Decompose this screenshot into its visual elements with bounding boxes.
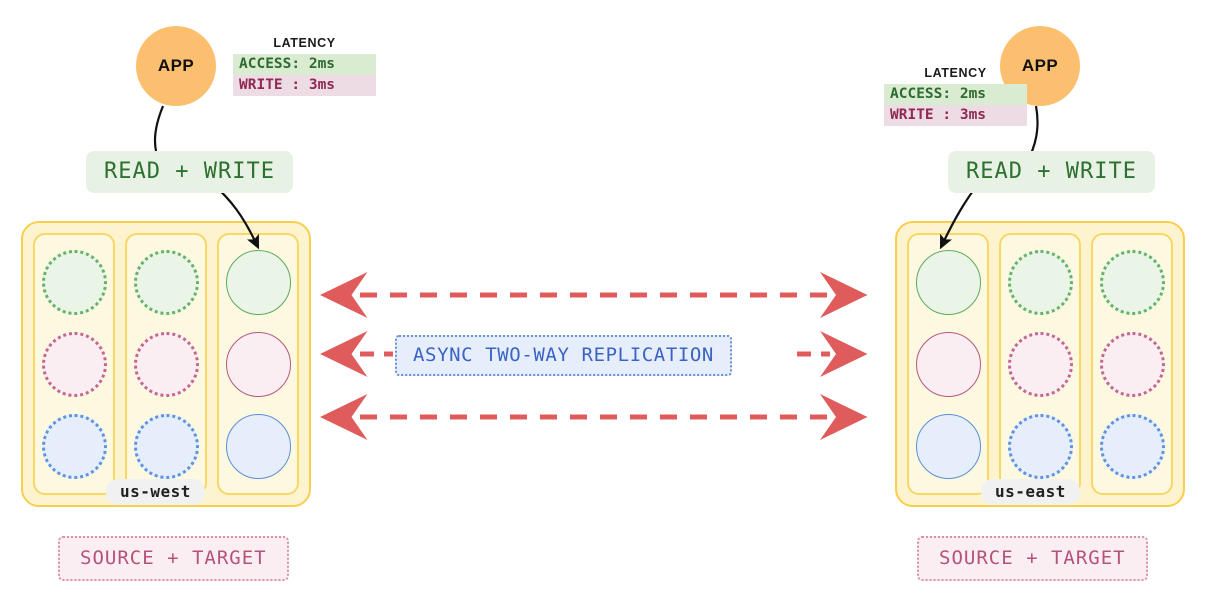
app-node-label-right: APP xyxy=(1022,56,1058,76)
region-column xyxy=(999,233,1081,495)
access-mode-label-right: READ + WRITE xyxy=(948,151,1155,193)
latency-row-write-right: WRITE : 3ms xyxy=(884,105,1027,126)
latency-title-right: LATENCY xyxy=(884,66,1027,80)
primary-node-blue xyxy=(226,414,291,479)
latency-row-write-left: WRITE : 3ms xyxy=(233,75,376,96)
replica-node-green xyxy=(1008,250,1073,315)
region-name-us-east: us-east xyxy=(981,479,1080,505)
primary-node-pink xyxy=(916,332,981,397)
replica-node-pink xyxy=(42,332,107,397)
region-name-us-west: us-west xyxy=(106,479,205,505)
region-role-label-right: SOURCE + TARGET xyxy=(917,536,1148,581)
replica-node-green xyxy=(134,250,199,315)
replication-label: ASYNC TWO-WAY REPLICATION xyxy=(395,335,732,376)
app-node-left[interactable]: APP xyxy=(136,26,216,106)
replica-node-blue xyxy=(42,414,107,479)
region-column xyxy=(125,233,207,495)
latency-table-right: LATENCY ACCESS: 2ms WRITE : 3ms xyxy=(884,66,1027,126)
replica-node-blue xyxy=(1100,414,1165,479)
access-mode-label-left: READ + WRITE xyxy=(86,151,293,193)
region-container-us-east xyxy=(895,221,1185,507)
replica-node-pink xyxy=(1100,332,1165,397)
latency-row-access-right: ACCESS: 2ms xyxy=(884,84,1027,105)
replica-node-pink xyxy=(1008,332,1073,397)
replica-node-pink xyxy=(134,332,199,397)
region-column-primary xyxy=(907,233,989,495)
region-column xyxy=(33,233,115,495)
primary-node-pink xyxy=(226,332,291,397)
replica-node-blue xyxy=(134,414,199,479)
primary-node-green xyxy=(916,250,981,315)
app-node-label-left: APP xyxy=(158,56,194,76)
replica-node-green xyxy=(42,250,107,315)
region-role-label-left: SOURCE + TARGET xyxy=(58,536,289,581)
replica-node-blue xyxy=(1008,414,1073,479)
diagram-canvas: APP LATENCY ACCESS: 2ms WRITE : 3ms READ… xyxy=(0,0,1207,598)
latency-table-left: LATENCY ACCESS: 2ms WRITE : 3ms xyxy=(233,36,376,96)
latency-row-access-left: ACCESS: 2ms xyxy=(233,54,376,75)
replica-node-green xyxy=(1100,250,1165,315)
region-column-primary xyxy=(217,233,299,495)
region-column xyxy=(1091,233,1173,495)
region-container-us-west xyxy=(21,221,311,507)
primary-node-blue xyxy=(916,414,981,479)
primary-node-green xyxy=(226,250,291,315)
latency-title-left: LATENCY xyxy=(233,36,376,50)
